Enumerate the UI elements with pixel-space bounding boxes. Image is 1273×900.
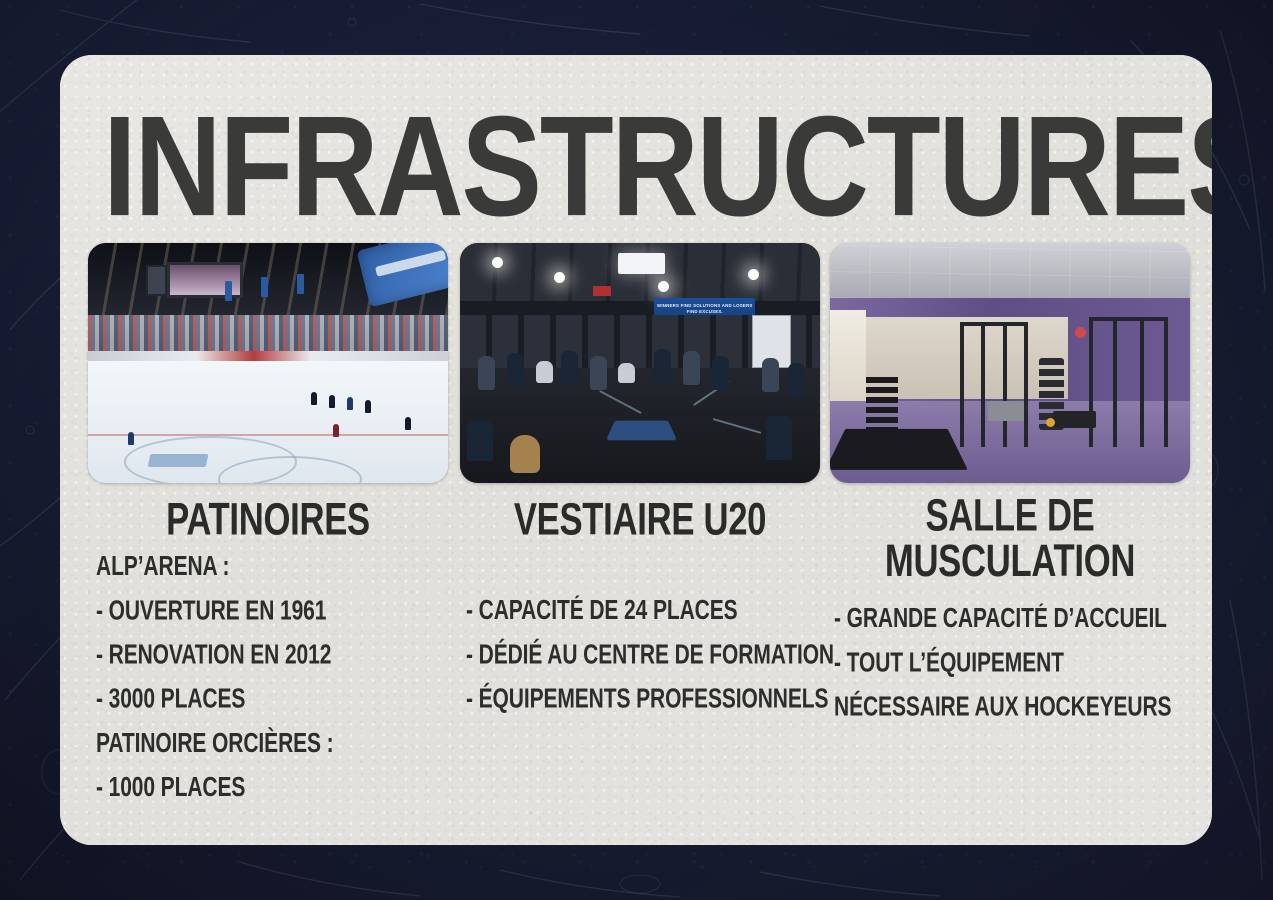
hockey-player — [128, 432, 134, 445]
seated-player — [590, 356, 607, 390]
squat-rack — [960, 322, 1028, 447]
exit-sign — [593, 286, 611, 296]
power-rack — [1089, 317, 1168, 447]
list-item: - RENOVATION EN 2012 — [96, 641, 448, 668]
hanging-banner-icon — [261, 277, 268, 297]
seated-player — [654, 349, 671, 383]
seated-player — [683, 351, 700, 385]
list-item: - CAPACITÉ DE 24 PLACES — [466, 597, 820, 624]
player-pads — [536, 361, 553, 383]
ceiling-light-panel — [618, 253, 665, 275]
team-logo-mat — [606, 420, 678, 440]
list-item: - 3000 PLACES — [96, 686, 448, 713]
column-heading-musculation: SALLE DE MUSCULATION — [826, 493, 1193, 584]
column-heading-vestiaire: VESTIAIRE U20 — [456, 497, 823, 543]
wall-ball — [1075, 327, 1086, 338]
hockey-player — [365, 400, 371, 413]
weight-bench — [988, 401, 1024, 420]
hockey-player — [405, 417, 411, 430]
center-red-line — [88, 434, 448, 436]
column-musculation: SALLE DE MUSCULATION - GRANDE CAPACITÉ D… — [830, 243, 1190, 707]
content-card: INFRASTRUCTURES — [60, 55, 1212, 845]
locker-room-photo: WINNERS FIND SOLUTIONS AND LOSERS FIND E… — [460, 243, 820, 483]
motivational-banner-text: WINNERS FIND SOLUTIONS AND LOSERS FIND E… — [654, 303, 755, 314]
list-item: - 1000 PLACES — [96, 774, 448, 801]
poster-slide: INFRASTRUCTURES — [0, 0, 1273, 900]
list-item: - TOUT L’ÉQUIPEMENT — [834, 649, 1190, 676]
seated-player — [788, 363, 805, 397]
seated-player — [712, 356, 729, 390]
hockey-player — [333, 424, 339, 437]
column-body-musculation: - GRANDE CAPACITÉ D’ACCUEIL - TOUT L’ÉQU… — [834, 605, 1190, 721]
column-vestiaire: WINNERS FIND SOLUTIONS AND LOSERS FIND E… — [460, 243, 820, 699]
column-patinoires: PATINOIRES ALP’ARENA : - OUVERTURE EN 19… — [88, 243, 448, 757]
flat-bench — [1053, 411, 1096, 428]
column-body-patinoires: ALP’ARENA : - OUVERTURE EN 1961 - RENOVA… — [96, 553, 448, 801]
list-item: PATINOIRE ORCIÈRES : — [96, 730, 448, 757]
foreground-player — [766, 416, 792, 460]
list-item: - ÉQUIPEMENTS PROFESSIONNELS — [466, 685, 820, 712]
player-pads — [618, 363, 635, 383]
list-item: ALP’ARENA : — [96, 553, 448, 580]
center-ice-logo — [148, 454, 208, 467]
rubber-mat — [830, 429, 968, 470]
seated-player — [478, 356, 495, 390]
seated-player — [507, 353, 524, 387]
hockey-player — [311, 392, 317, 405]
ice-rink-arena-photo — [88, 243, 448, 483]
hanging-banner-icon — [297, 274, 304, 294]
rink-boards — [88, 351, 448, 361]
hanging-banner-icon — [225, 281, 232, 301]
list-item: - GRANDE CAPACITÉ D’ACCUEIL — [834, 605, 1190, 632]
seated-player — [561, 351, 578, 385]
foreground-player-head — [510, 435, 540, 473]
column-body-vestiaire: - CAPACITÉ DE 24 PLACES - DÉDIÉ AU CENTR… — [466, 597, 820, 713]
hockey-player — [329, 395, 335, 408]
ice-surface — [88, 361, 448, 483]
seated-player — [762, 358, 779, 392]
hockey-player — [347, 397, 353, 410]
spectator-crowd — [88, 315, 448, 351]
list-item: - DÉDIÉ AU CENTRE DE FORMATION — [466, 641, 820, 668]
list-item: NÉCESSAIRE AUX HOCKEYEURS — [834, 693, 1190, 720]
weight-room-photo — [830, 243, 1190, 483]
weight-plate-rack — [866, 377, 898, 430]
ceiling-spotlight-icon — [554, 272, 565, 283]
scoreboard-side-panel — [146, 265, 168, 296]
column-heading-patinoires: PATINOIRES — [84, 497, 451, 543]
gym-window — [830, 310, 866, 401]
columns-container: PATINOIRES ALP’ARENA : - OUVERTURE EN 19… — [60, 55, 1212, 845]
gym-ceiling — [830, 243, 1190, 298]
foreground-player — [467, 421, 493, 461]
list-item: - OUVERTURE EN 1961 — [96, 597, 448, 624]
